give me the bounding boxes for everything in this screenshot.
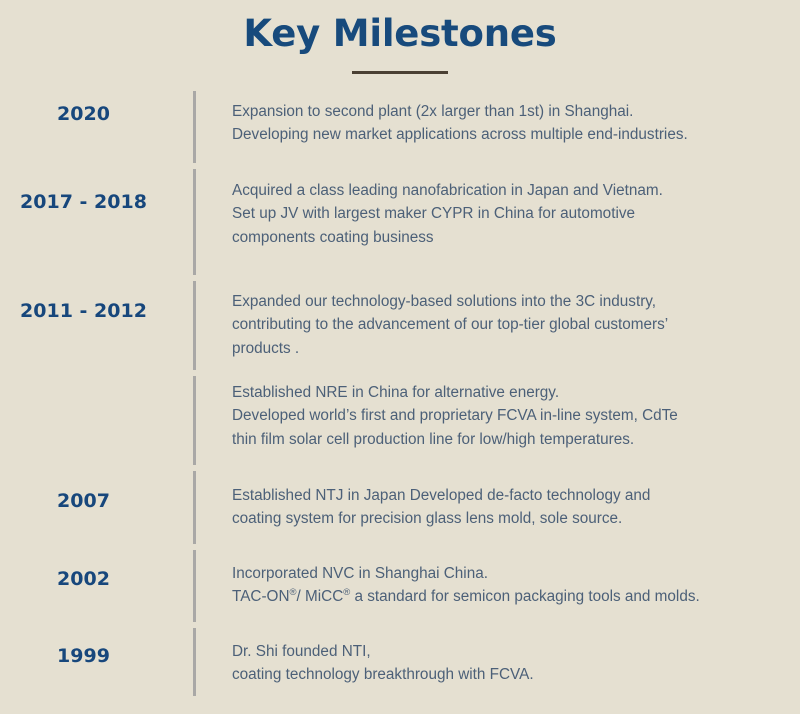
- description-line: Acquired a class leading nanofabrication…: [232, 179, 788, 203]
- timeline-divider: [175, 166, 232, 278]
- timeline-divider: [175, 547, 232, 625]
- description-line: coating technology breakthrough with FCV…: [232, 663, 788, 687]
- timeline-description: Acquired a class leading nanofabrication…: [232, 166, 800, 250]
- description-line: coating system for precision glass lens …: [232, 507, 788, 531]
- timeline-row: 2007 Established NTJ in Japan Developed …: [0, 468, 800, 547]
- page-header: Key Milestones: [0, 0, 800, 74]
- timeline-row-continuation: Established NRE in China for alternative…: [0, 373, 800, 468]
- timeline-divider: [175, 373, 232, 468]
- timeline-description: Established NTJ in Japan Developed de-fa…: [232, 468, 800, 531]
- timeline-year: 2017 - 2018: [0, 166, 175, 213]
- timeline-year: 2011 - 2012: [0, 278, 175, 322]
- description-line: Set up JV with largest maker CYPR in Chi…: [232, 202, 788, 226]
- timeline-year: 1999: [0, 625, 175, 667]
- timeline-description: Dr. Shi founded NTI, coating technology …: [232, 625, 800, 687]
- description-line: Established NTJ in Japan Developed de-fa…: [232, 484, 788, 508]
- description-line: Developing new market applications acros…: [232, 123, 788, 147]
- description-line: Incorporated NVC in Shanghai China.: [232, 562, 788, 586]
- description-line: Expanded our technology-based solutions …: [232, 290, 788, 314]
- timeline-description: Expanded our technology-based solutions …: [232, 278, 800, 361]
- timeline-row: 2002 Incorporated NVC in Shanghai China.…: [0, 547, 800, 625]
- timeline-description: Incorporated NVC in Shanghai China. TAC-…: [232, 547, 800, 609]
- timeline-year: 2020: [0, 88, 175, 125]
- description-line: TAC-ON®/ MiCC® a standard for semicon pa…: [232, 585, 788, 609]
- timeline-row: 1999 Dr. Shi founded NTI, coating techno…: [0, 625, 800, 699]
- timeline-description: Established NRE in China for alternative…: [232, 373, 800, 452]
- timeline-divider: [175, 278, 232, 373]
- description-line: thin film solar cell production line for…: [232, 428, 788, 452]
- timeline-row: 2020 Expansion to second plant (2x large…: [0, 88, 800, 166]
- title-divider-rule: [352, 71, 448, 74]
- timeline-row: 2017 - 2018 Acquired a class leading nan…: [0, 166, 800, 278]
- timeline-description: Expansion to second plant (2x larger tha…: [232, 88, 800, 147]
- timeline-row: 2011 - 2012 Expanded our technology-base…: [0, 278, 800, 373]
- timeline-year: 2002: [0, 547, 175, 590]
- description-line: Dr. Shi founded NTI,: [232, 640, 788, 664]
- description-line: components coating business: [232, 226, 788, 250]
- timeline-year: 2007: [0, 468, 175, 512]
- description-line: Developed world’s first and proprietary …: [232, 404, 788, 428]
- page-title: Key Milestones: [0, 14, 800, 55]
- timeline-divider: [175, 625, 232, 699]
- description-line: contributing to the advancement of our t…: [232, 313, 788, 337]
- description-line: Expansion to second plant (2x larger tha…: [232, 100, 788, 124]
- milestones-timeline: 2020 Expansion to second plant (2x large…: [0, 88, 800, 699]
- timeline-divider: [175, 88, 232, 166]
- description-line: products .: [232, 337, 788, 361]
- timeline-divider: [175, 468, 232, 547]
- description-line: Established NRE in China for alternative…: [232, 381, 788, 405]
